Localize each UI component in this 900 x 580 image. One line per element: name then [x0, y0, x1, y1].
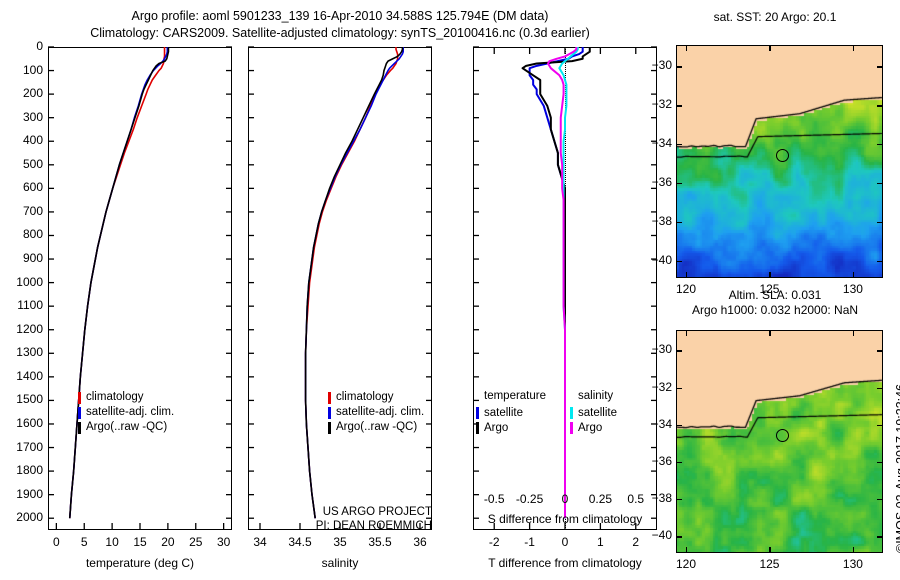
difference-profile-panel — [473, 47, 657, 530]
map-lat-tick — [877, 425, 883, 426]
depth-tick-label: 400 — [0, 133, 43, 147]
map-lat-tick — [877, 388, 883, 389]
map-lat-tick — [676, 425, 682, 426]
map-lat-tick-label: −32 — [640, 97, 672, 111]
legend-column: temperaturesatelliteArgo — [476, 390, 546, 435]
sla-map-panel — [676, 330, 883, 553]
legend-color-swatch — [328, 392, 331, 404]
temperature-profile-panel — [48, 47, 232, 530]
sla-map-title: Altim. SLA: 0.031 Argo h1000: 0.032 h200… — [655, 288, 895, 318]
depth-tick-label: 1900 — [0, 487, 43, 501]
map-lat-tick-label: −40 — [640, 528, 672, 542]
legend-color-swatch — [570, 422, 573, 434]
depth-tick-label: 800 — [0, 227, 43, 241]
difference-profile-plot — [473, 47, 657, 530]
map-lat-tick — [877, 536, 883, 537]
map-lon-tick-label: 120 — [661, 557, 711, 571]
depth-tick-label: 300 — [0, 110, 43, 124]
legend-color-swatch — [476, 422, 479, 434]
map-lat-tick — [877, 499, 883, 500]
map-lon-tick — [853, 272, 854, 278]
salinity-profile-plot — [248, 47, 432, 530]
map-lat-tick-label: −30 — [640, 342, 672, 356]
temperature-legend: climatologysatellite-adj. clim.Argo(..ra… — [78, 390, 174, 435]
s-difference-axis-label: S difference from climatology — [465, 512, 665, 526]
map-lat-tick — [676, 462, 682, 463]
t-difference-axis-label: T difference from climatology — [465, 556, 665, 570]
map-lat-tick-label: −34 — [640, 417, 672, 431]
legend-label: Argo — [578, 422, 602, 434]
depth-tick-label: 1600 — [0, 416, 43, 430]
legend-color-swatch — [78, 392, 81, 404]
project-credit: US ARGO PROJECT PI: DEAN ROEMMICH — [262, 505, 432, 533]
depth-tick-label: 700 — [0, 204, 43, 218]
map-lat-tick — [676, 350, 682, 351]
depth-tick-label: 600 — [0, 180, 43, 194]
map-lon-tick — [769, 45, 770, 51]
map-lon-tick — [769, 547, 770, 553]
legend-color-swatch — [570, 407, 573, 419]
copyright-text: ©IMOS 02-Aug-2017 19:23:46 — [894, 384, 900, 553]
map-lat-tick — [676, 261, 682, 262]
map-lon-tick — [686, 330, 687, 336]
legend-label: satellite-adj. clim. — [86, 405, 174, 420]
legend-color-swatch — [78, 422, 81, 434]
legend-label: satellite — [484, 407, 523, 419]
legend-label: climatology — [336, 390, 394, 405]
legend-item: Argo — [570, 420, 617, 435]
map-lat-tick — [676, 105, 682, 106]
map-lon-tick-label: 125 — [744, 557, 794, 571]
legend-item: climatology — [78, 390, 174, 405]
depth-tick-label: 0 — [0, 39, 43, 53]
legend-label: Argo — [484, 422, 508, 434]
sst-map-panel — [676, 45, 883, 278]
temperature-axis-label: temperature (deg C) — [48, 556, 232, 570]
legend-label: Argo(..raw -QC) — [86, 420, 167, 435]
legend-item: Argo — [476, 420, 546, 435]
map-lon-tick — [853, 330, 854, 336]
depth-tick-label: 1700 — [0, 440, 43, 454]
page-title: Argo profile: aoml 5901233_139 16-Apr-20… — [0, 8, 680, 42]
map-lat-tick-label: −30 — [640, 58, 672, 72]
map-lat-tick — [877, 222, 883, 223]
depth-tick-label: 1000 — [0, 275, 43, 289]
depth-tick-label: 1100 — [0, 298, 43, 312]
map-lat-tick-label: −32 — [640, 380, 672, 394]
legend-item: climatology — [328, 390, 424, 405]
legend-color-swatch — [328, 407, 331, 419]
legend-label: Argo(..raw -QC) — [336, 420, 417, 435]
map-lat-tick — [676, 183, 682, 184]
map-lat-tick — [676, 66, 682, 67]
map-lon-tick — [686, 272, 687, 278]
map-lat-tick — [877, 261, 883, 262]
map-lat-tick — [877, 66, 883, 67]
map-lat-tick-label: −36 — [640, 454, 672, 468]
legend-item: satellite — [476, 405, 546, 420]
depth-tick-label: 100 — [0, 63, 43, 77]
map-lat-tick — [676, 499, 682, 500]
depth-tick-label: 1200 — [0, 322, 43, 336]
depth-tick-label: 1400 — [0, 369, 43, 383]
legend-item: Argo(..raw -QC) — [328, 420, 424, 435]
legend-color-swatch — [328, 422, 331, 434]
map-lat-tick — [676, 222, 682, 223]
map-lon-tick-label: 130 — [828, 557, 878, 571]
legend-item: satellite-adj. clim. — [328, 405, 424, 420]
legend-label: climatology — [86, 390, 144, 405]
legend-item: satellite — [570, 405, 617, 420]
map-lon-tick — [686, 45, 687, 51]
map-lat-tick — [877, 183, 883, 184]
legend-item: Argo(..raw -QC) — [78, 420, 174, 435]
map-lat-tick — [676, 388, 682, 389]
legend-item: satellite-adj. clim. — [78, 405, 174, 420]
map-lon-tick — [686, 547, 687, 553]
temperature-profile-plot — [48, 47, 232, 530]
map-lon-tick — [853, 45, 854, 51]
depth-tick-label: 200 — [0, 86, 43, 100]
legend-color-swatch — [476, 407, 479, 419]
legend-column: salinitysatelliteArgo — [570, 390, 617, 435]
map-lat-tick-label: −38 — [640, 214, 672, 228]
legend-label: satellite — [578, 407, 617, 419]
map-lat-tick-label: −34 — [640, 136, 672, 150]
depth-tick-label: 1500 — [0, 392, 43, 406]
depth-tick-label: 900 — [0, 251, 43, 265]
map-lon-tick — [769, 330, 770, 336]
map-lat-tick-label: −40 — [640, 253, 672, 267]
salinity-axis-label: salinity — [248, 556, 432, 570]
map-lat-tick — [676, 536, 682, 537]
axis-tick-label: 36 — [395, 535, 445, 549]
legend-color-swatch — [78, 407, 81, 419]
map-lat-tick — [676, 144, 682, 145]
legend-heading: temperature — [484, 390, 546, 405]
legend-label: satellite-adj. clim. — [336, 405, 424, 420]
depth-tick-label: 1300 — [0, 345, 43, 359]
salinity-profile-panel — [248, 47, 432, 530]
map-lat-tick-label: −38 — [640, 491, 672, 505]
map-lat-tick — [877, 105, 883, 106]
difference-legend: temperaturesatelliteArgosalinitysatellit… — [476, 390, 617, 435]
depth-tick-label: 500 — [0, 157, 43, 171]
depth-tick-label: 2000 — [0, 510, 43, 524]
sst-map-title: sat. SST: 20 Argo: 20.1 — [655, 10, 895, 25]
map-lat-tick — [877, 144, 883, 145]
map-lat-tick — [877, 350, 883, 351]
legend-heading: salinity — [578, 390, 617, 405]
salinity-legend: climatologysatellite-adj. clim.Argo(..ra… — [328, 390, 424, 435]
map-lat-tick-label: −36 — [640, 175, 672, 189]
map-lon-tick — [853, 547, 854, 553]
map-lon-tick — [769, 272, 770, 278]
map-lat-tick — [877, 462, 883, 463]
depth-tick-label: 1800 — [0, 463, 43, 477]
